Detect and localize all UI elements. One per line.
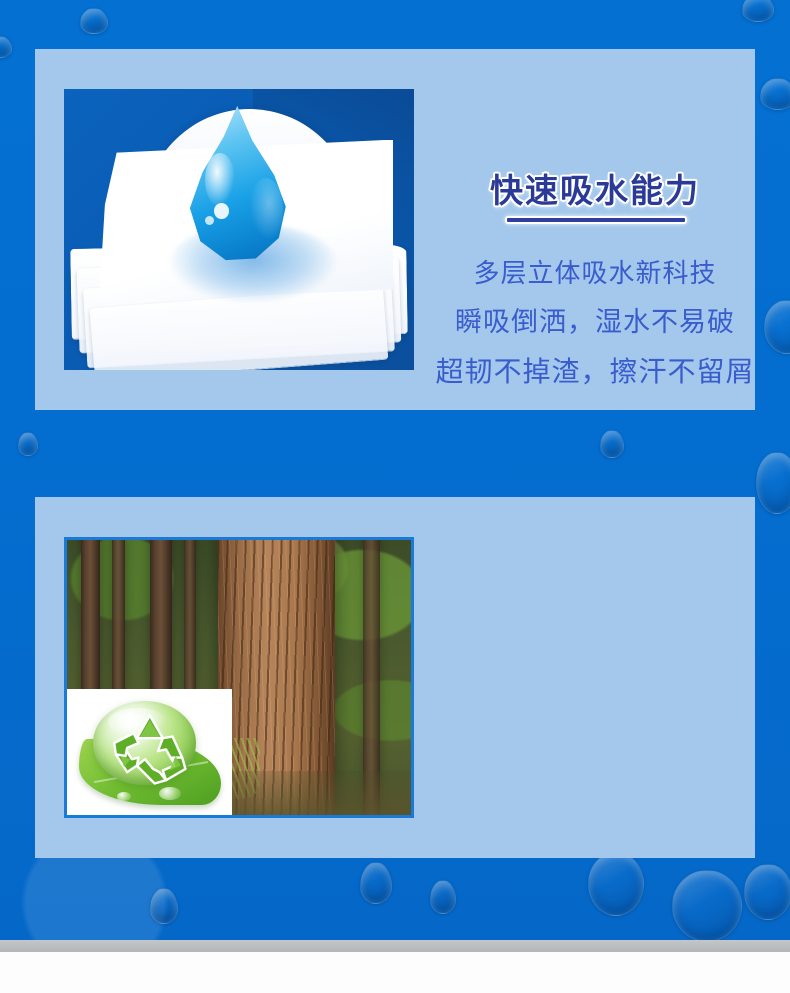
green-recycle-leaf-badge <box>67 689 232 816</box>
title-underline <box>505 216 687 224</box>
bottom-white-area <box>0 952 790 993</box>
water-drop-decoration <box>744 864 790 920</box>
feature-card-absorbency: 快速吸水能力 多层立体吸水新科技 瞬吸倒洒，湿水不易破 超韧不掉渣，擦汗不留屑 <box>35 49 755 410</box>
water-drop-decoration <box>672 870 742 942</box>
description-line: 超韧不掉渣，擦汗不留屑 <box>405 347 785 397</box>
description-line: 多层立体吸水新科技 <box>405 249 785 297</box>
water-drop-decoration <box>742 0 774 22</box>
virgin-pulp-text-column: 精选进口原生木浆 绿色原料，天然安心 纸质纯净，自然柔白 不含可迁移性荧光增白剂 <box>435 497 755 858</box>
water-drop-decoration <box>360 862 392 904</box>
water-drop-decoration <box>0 36 12 58</box>
water-drop-decoration <box>18 432 38 456</box>
absorbency-image <box>64 89 414 370</box>
water-drop-decoration <box>600 430 624 458</box>
water-drop-decoration <box>80 8 108 34</box>
droplet-highlight <box>205 216 214 225</box>
water-drop-decoration <box>430 880 456 914</box>
droplet-shine <box>249 178 284 241</box>
absorbency-description: 多层立体吸水新科技 瞬吸倒洒，湿水不易破 超韧不掉渣，擦汗不留屑 <box>405 249 785 397</box>
product-detail-page: 快速吸水能力 多层立体吸水新科技 瞬吸倒洒，湿水不易破 超韧不掉渣，擦汗不留屑 <box>0 0 790 993</box>
recycle-icon <box>97 709 203 790</box>
water-drop-decoration <box>760 78 790 110</box>
water-droplet-on-tissue-stack-illustration <box>64 89 414 370</box>
description-line: 瞬吸倒洒，湿水不易破 <box>405 297 785 347</box>
water-drop-decoration <box>756 452 790 514</box>
section-title-absorbency: 快速吸水能力 <box>435 164 755 212</box>
water-drop-decoration <box>150 888 178 924</box>
droplet-highlight <box>214 203 229 219</box>
absorbency-text-column: 快速吸水能力 多层立体吸水新科技 瞬吸倒洒，湿水不易破 超韧不掉渣，擦汗不留屑 <box>435 49 755 410</box>
water-drop-decoration <box>588 852 644 916</box>
feature-card-virgin-pulp: 精选进口原生木浆 绿色原料，天然安心 纸质纯净，自然柔白 不含可迁移性荧光增白剂 <box>35 497 755 858</box>
forest-image <box>64 537 414 818</box>
bottom-gray-divider <box>0 940 790 952</box>
droplet-highlight <box>205 153 235 207</box>
